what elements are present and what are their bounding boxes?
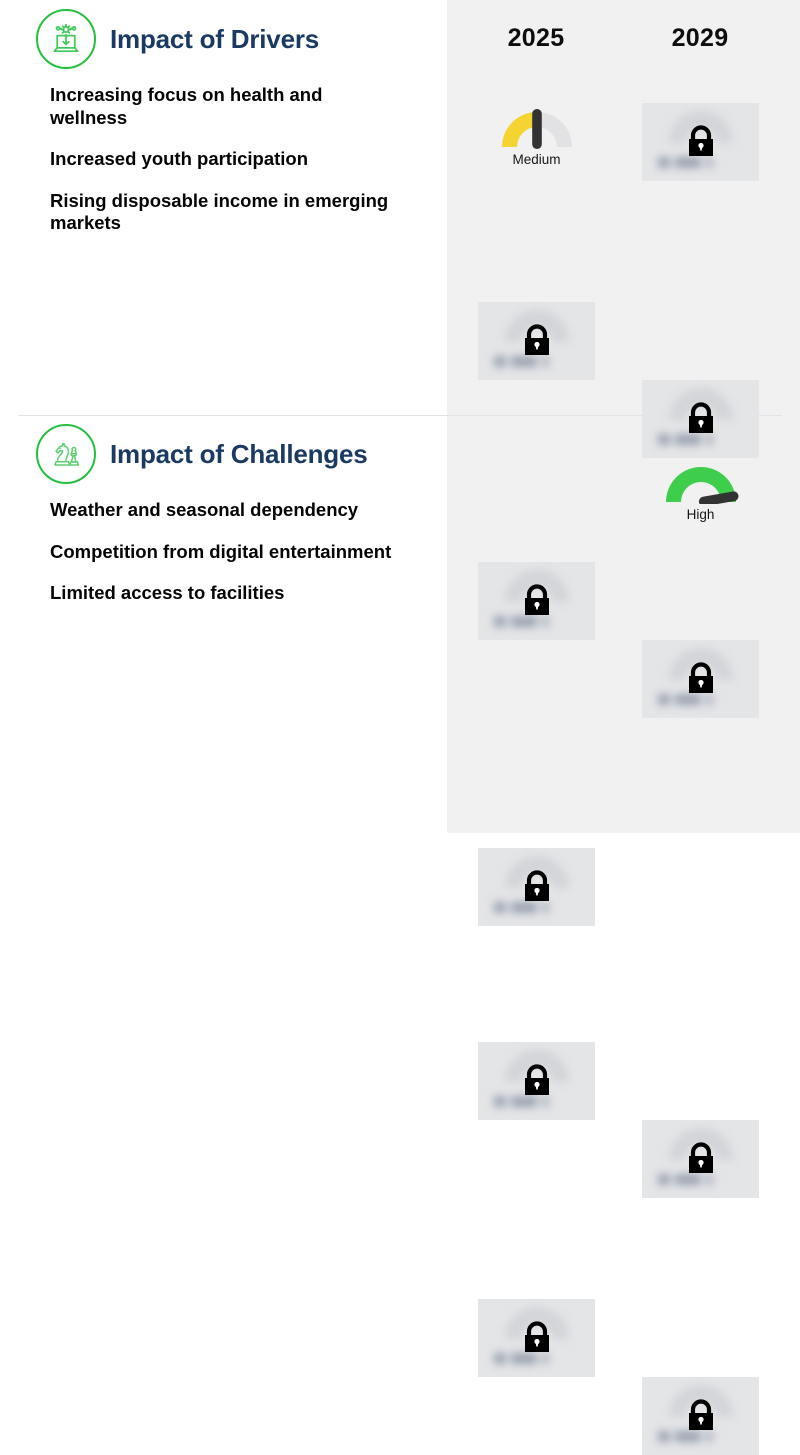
gauge-rating-label: Medium bbox=[512, 152, 560, 167]
lock-icon bbox=[520, 868, 554, 906]
list-item: Weather and seasonal dependency bbox=[50, 499, 402, 522]
lock-icon bbox=[520, 1062, 554, 1100]
column-header-2029: 2029 bbox=[620, 24, 780, 53]
section-title-challenges: Impact of Challenges bbox=[110, 439, 368, 470]
lock-icon bbox=[684, 123, 718, 161]
lock-icon bbox=[520, 322, 554, 360]
locked-cell-drivers-r2-2029[interactable] bbox=[642, 380, 759, 458]
list-item: Rising disposable income in emerging mar… bbox=[50, 190, 402, 235]
impact-matrix: 2025 2029 Impact of D bbox=[0, 0, 800, 833]
rating-gauge-challenges-r1-2029[interactable]: High bbox=[642, 458, 759, 536]
locked-cell-drivers-r2-2025[interactable] bbox=[478, 302, 595, 380]
section-header-challenges: Impact of Challenges bbox=[0, 415, 447, 493]
list-item: Increased youth participation bbox=[50, 148, 402, 171]
lock-icon bbox=[684, 1140, 718, 1178]
section-title-drivers: Impact of Drivers bbox=[110, 24, 319, 55]
column-header-2025: 2025 bbox=[456, 24, 616, 53]
locked-cell-drivers-r3-2029[interactable] bbox=[642, 640, 759, 718]
lock-icon bbox=[684, 1397, 718, 1435]
challenges-bullet-list: Weather and seasonal dependency Competit… bbox=[0, 499, 447, 605]
lock-icon bbox=[684, 400, 718, 438]
lock-icon bbox=[520, 582, 554, 620]
chess-pieces-icon bbox=[36, 424, 96, 484]
locked-cell-drivers-r3-2025[interactable] bbox=[478, 562, 595, 640]
laptop-gear-download-icon bbox=[36, 9, 96, 69]
locked-cell-challenges-r2-2025[interactable] bbox=[478, 1042, 595, 1120]
locked-cell-challenges-r2-2029[interactable] bbox=[642, 1120, 759, 1198]
locked-cell-challenges-r1-2025[interactable] bbox=[478, 848, 595, 926]
section-header-drivers: Impact of Drivers bbox=[0, 0, 447, 78]
locked-cell-challenges-r3-2025[interactable] bbox=[478, 1299, 595, 1377]
locked-cell-drivers-r1-2029[interactable] bbox=[642, 103, 759, 181]
lock-icon bbox=[520, 1319, 554, 1357]
rating-gauge-drivers-r1-2025[interactable]: Medium bbox=[478, 103, 595, 181]
labels-column: Impact of Drivers Increasing focus on he… bbox=[0, 0, 447, 833]
gauge-high-icon bbox=[660, 458, 742, 504]
gauge-rating-label: High bbox=[687, 507, 715, 522]
list-item: Limited access to facilities bbox=[50, 582, 402, 605]
list-item: Competition from digital entertainment bbox=[50, 541, 402, 564]
gauge-medium-icon bbox=[496, 103, 578, 149]
locked-cell-challenges-r3-2029[interactable] bbox=[642, 1377, 759, 1455]
section-drivers: Impact of Drivers Increasing focus on he… bbox=[0, 0, 447, 415]
drivers-bullet-list: Increasing focus on health and wellness … bbox=[0, 84, 447, 235]
list-item: Increasing focus on health and wellness bbox=[50, 84, 402, 129]
lock-icon bbox=[684, 660, 718, 698]
section-challenges: Impact of Challenges Weather and seasona… bbox=[0, 415, 447, 833]
